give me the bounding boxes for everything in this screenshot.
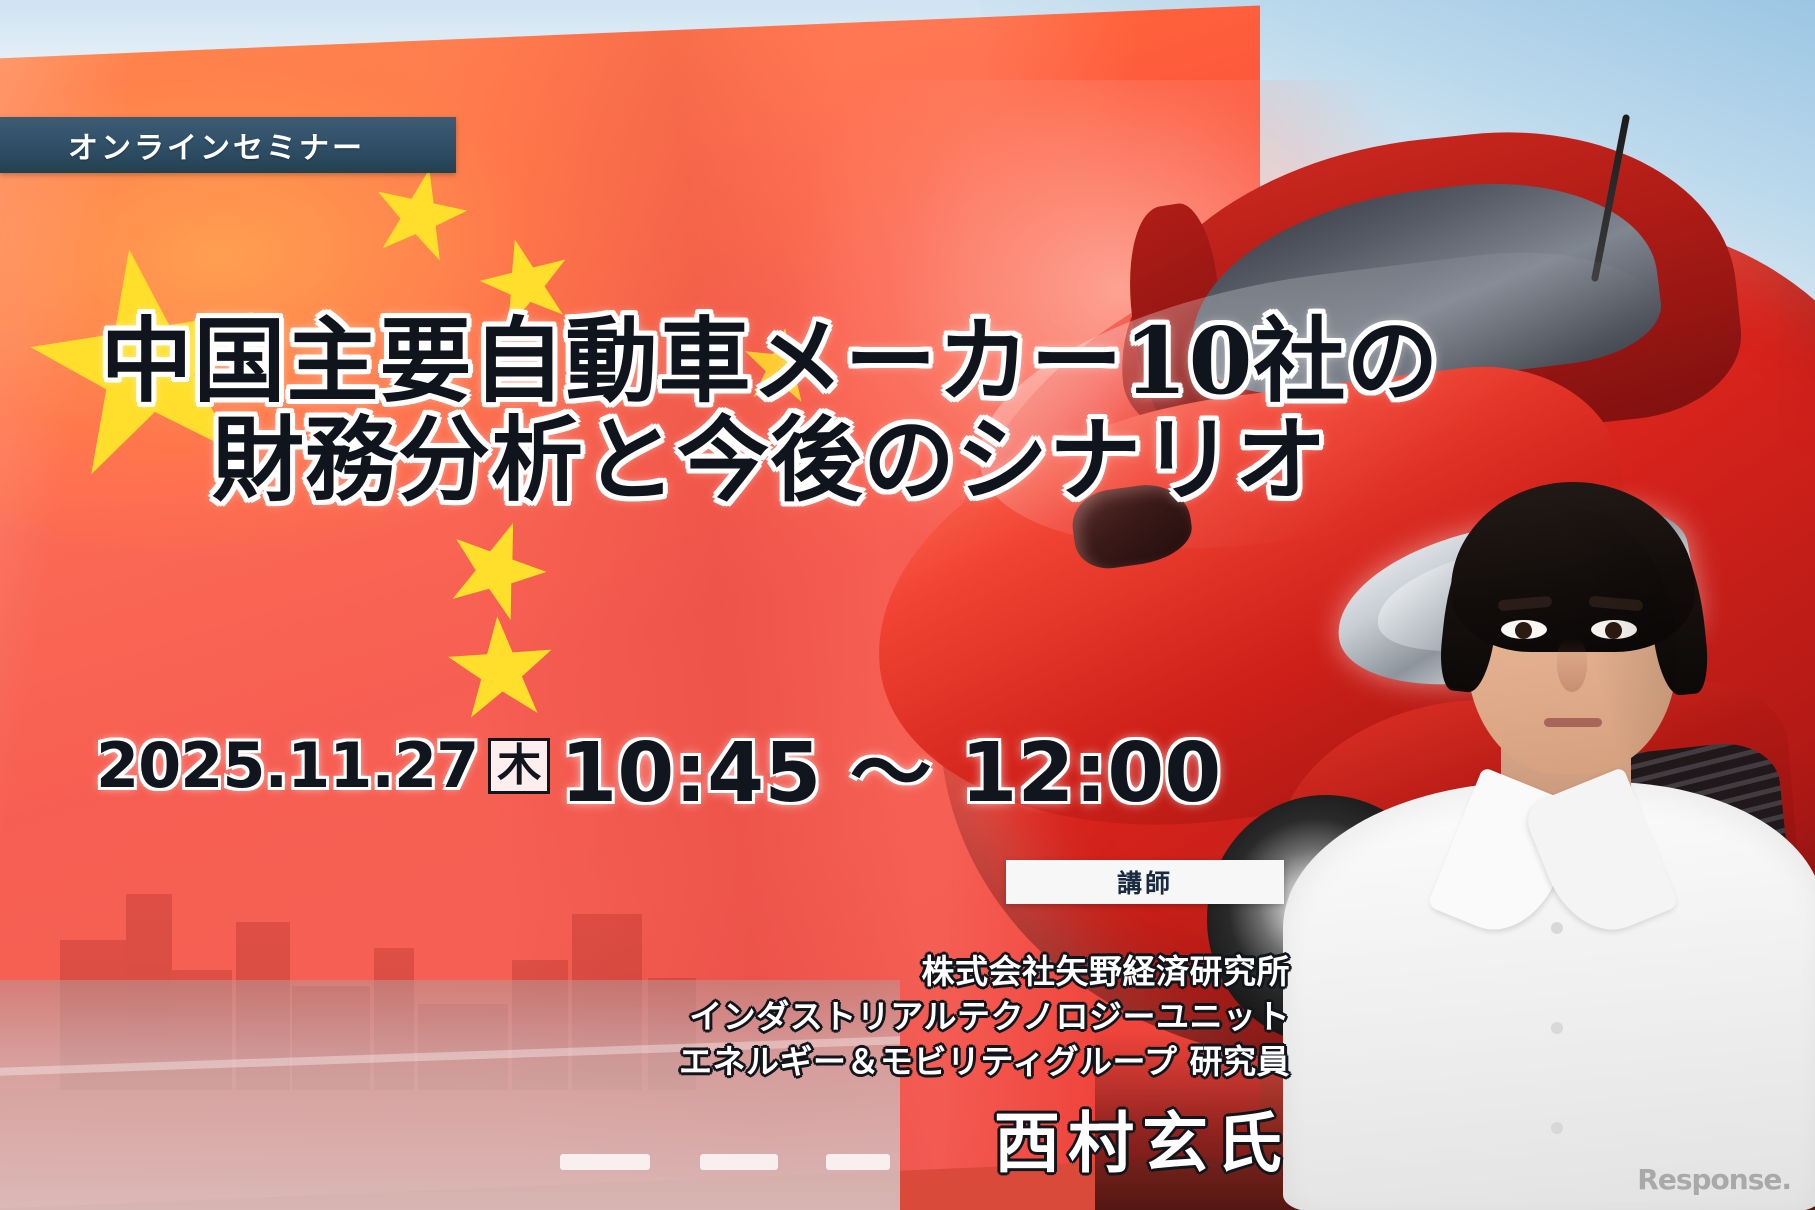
speaker-badge: 講師 <box>1006 860 1284 904</box>
title-line-1: 中国主要自動車メーカー10社の <box>100 307 1439 415</box>
response-watermark: Response. <box>1637 1163 1791 1196</box>
speaker-badge-label: 講師 <box>1117 864 1173 900</box>
seminar-banner-image: オンラインセミナー 中国主要自動車メーカー10社の 財務分析と今後のシナリオ 2… <box>0 0 1815 1210</box>
speaker-portrait-photo <box>1255 452 1815 1210</box>
speaker-name: 西村玄氏 <box>430 1090 1290 1186</box>
online-seminar-label: オンラインセミナー <box>0 123 365 167</box>
speaker-affiliation: 株式会社矢野経済研究所 インダストリアルテクノロジーユニット エネルギー＆モビリ… <box>430 950 1290 1085</box>
title-line-2: 財務分析と今後のシナリオ <box>0 411 1540 510</box>
speaker-company: 株式会社矢野経済研究所 <box>430 950 1290 995</box>
schedule-time: 10:45 ～ 12:00 <box>560 706 1221 825</box>
schedule-line: 2025.11.27 木 10:45 ～ 12:00 <box>96 706 1221 825</box>
page-title: 中国主要自動車メーカー10社の 財務分析と今後のシナリオ <box>0 312 1540 511</box>
online-seminar-ribbon: オンラインセミナー <box>0 117 456 173</box>
schedule-day-of-week: 木 <box>488 738 550 794</box>
speaker-unit: インダストリアルテクノロジーユニット <box>430 995 1290 1040</box>
speaker-group: エネルギー＆モビリティグループ 研究員 <box>430 1040 1290 1085</box>
schedule-date: 2025.11.27 <box>96 729 478 802</box>
